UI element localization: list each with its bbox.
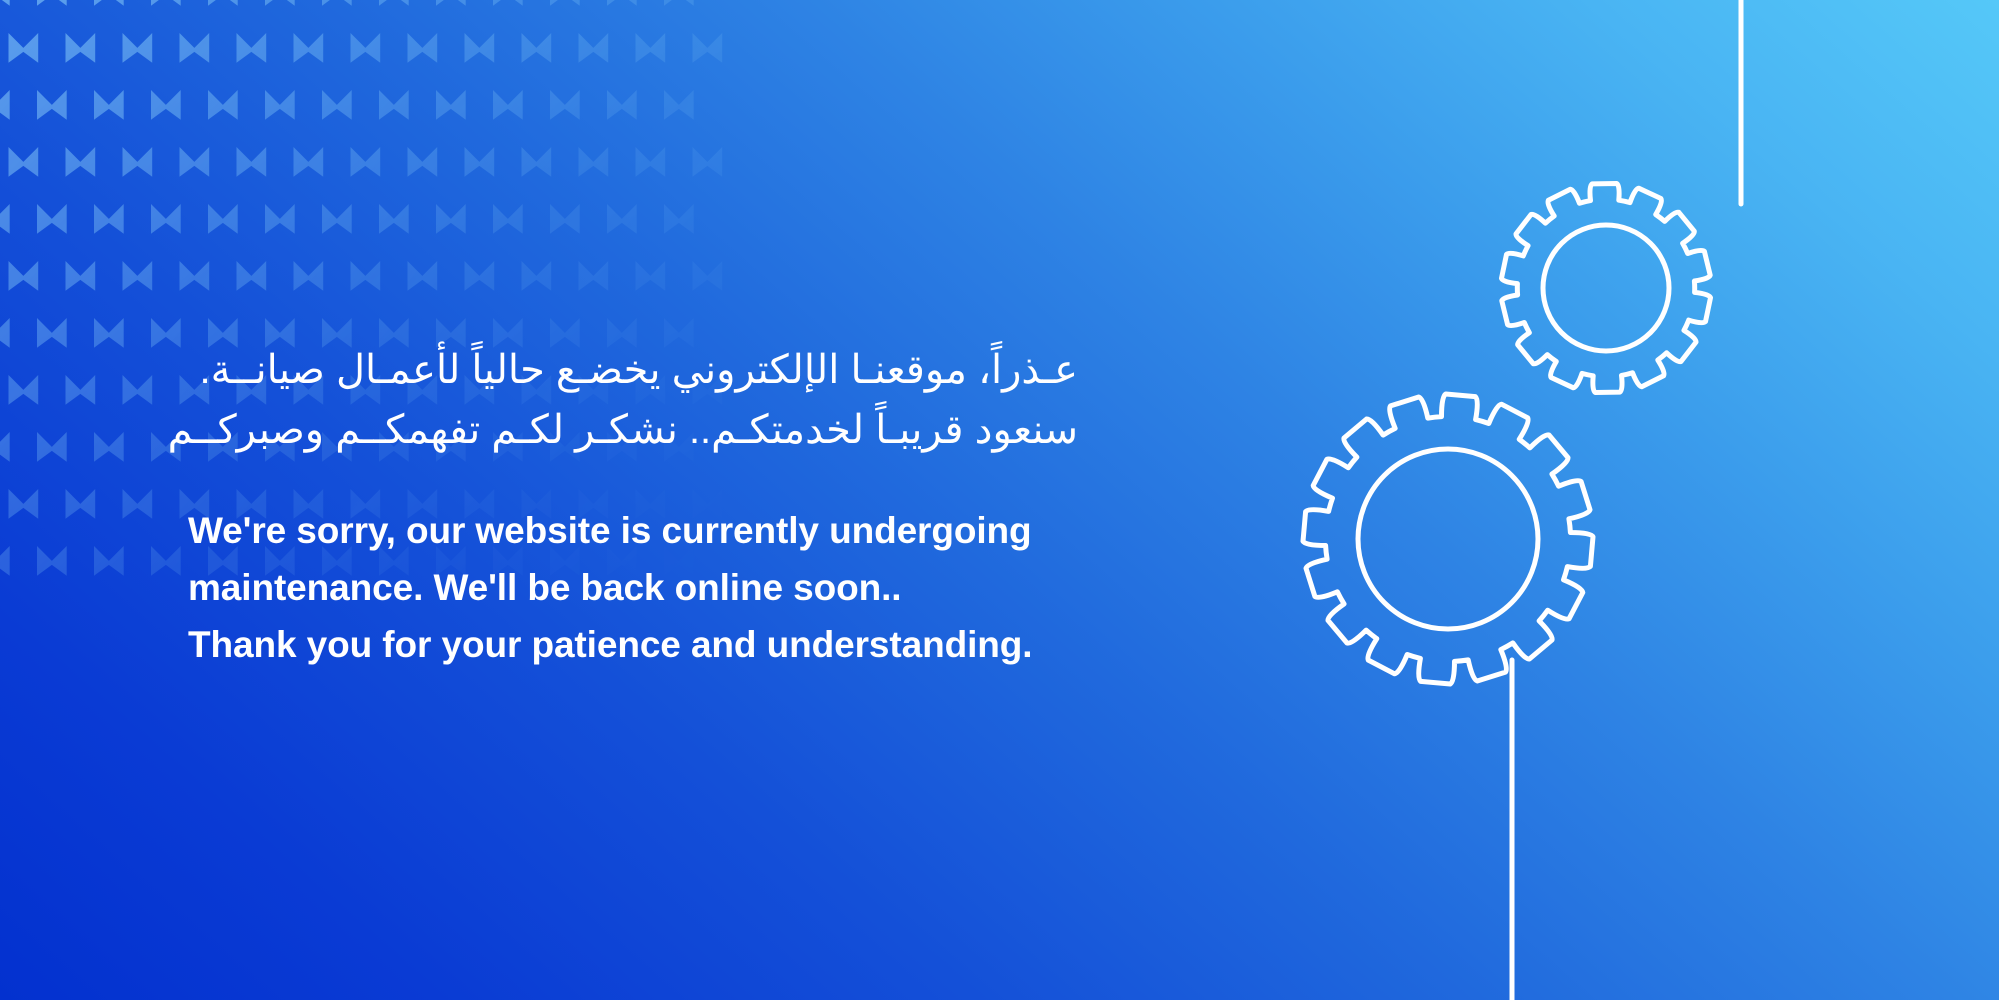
gear-icon-lower [1303,394,1593,684]
english-line-2: maintenance. We'll be back online soon.. [188,559,1148,616]
english-line-1: We're sorry, our website is currently un… [188,502,1148,559]
gear-hub-upper [1543,225,1669,351]
gear-icon-upper [1502,184,1711,393]
english-line-3: Thank you for your patience and understa… [188,616,1148,673]
gear-hub-lower [1358,449,1538,629]
english-message: We're sorry, our website is currently un… [188,502,1148,673]
arabic-line-1: عـذراً، موقعنـا الإلكتروني يخضـع حالياً … [148,340,1078,400]
arabic-line-2: سنعود قريبـاً لخدمتكـم.. نشكـر لكـم تفهم… [148,400,1078,460]
maintenance-message: عـذراً، موقعنـا الإلكتروني يخضـع حالياً … [188,340,1148,673]
arabic-message: عـذراً، موقعنـا الإلكتروني يخضـع حالياً … [148,340,1078,460]
maintenance-page: عـذراً، موقعنـا الإلكتروني يخضـع حالياً … [0,0,1999,1000]
